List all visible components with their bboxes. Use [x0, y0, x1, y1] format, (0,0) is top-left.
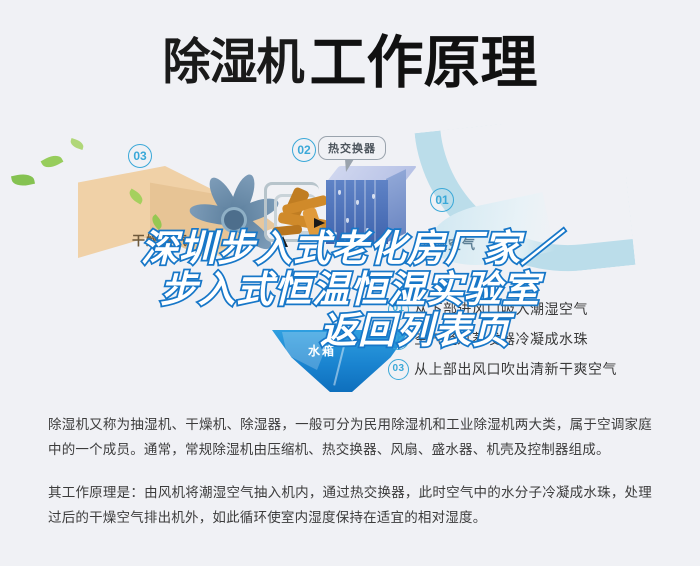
- leaf-icon: [69, 138, 85, 150]
- dehumidifier-diagram: 干燥空气: [0, 118, 700, 400]
- step-badge-03: 03: [128, 144, 152, 168]
- legend-text-01: 从下部进风口吸入潮湿空气: [414, 294, 588, 324]
- wet-air-label: 潮湿空气: [420, 234, 476, 253]
- legend-badge-03: 03: [388, 359, 409, 380]
- step-badge-01: 01: [430, 188, 454, 212]
- diagram-legend: 01 从下部进风口吸入潮湿空气 02 空气经过蒸发器冷凝成水珠 03 从上部出风…: [388, 294, 688, 384]
- step-badge-02: 02: [292, 138, 316, 162]
- title-part-dehumidifier: 除湿机: [162, 39, 303, 88]
- legend-text-02: 空气经过蒸发器冷凝成水珠: [414, 324, 588, 354]
- leaf-icon: [11, 172, 35, 188]
- legend-badge-02: 02: [388, 329, 409, 350]
- article-body: 除湿机又称为抽湿机、干燥机、除湿器，一般可分为民用除湿机和工业除湿机两大类，属于…: [0, 412, 700, 548]
- legend-text-03: 从上部出风口吹出清新干爽空气: [414, 354, 617, 384]
- dry-air-label: 干燥空气: [132, 230, 188, 249]
- article-paragraph-1: 除湿机又称为抽湿机、干燥机、除湿器，一般可分为民用除湿机和工业除湿机两大类，属于…: [48, 412, 652, 462]
- poster-page: 除湿机 工作原理 干燥空气: [0, 0, 700, 566]
- water-tank-label: 水箱: [308, 342, 336, 359]
- heat-exchanger-callout: 热交换器: [318, 136, 386, 160]
- page-title: 除湿机 工作原理: [0, 24, 700, 102]
- legend-item: 03 从上部出风口吹出清新干爽空气: [388, 354, 688, 384]
- title-part-working-principle: 工作原理: [310, 35, 538, 92]
- heat-exchanger-icon: [326, 166, 410, 244]
- leaf-icon: [41, 152, 64, 171]
- legend-item: 02 空气经过蒸发器冷凝成水珠: [388, 324, 688, 354]
- legend-item: 01 从下部进风口吸入潮湿空气: [388, 294, 688, 324]
- article-paragraph-2: 其工作原理是：由风机将潮湿空气抽入机内，通过热交换器，此时空气中的水分子冷凝成水…: [48, 480, 652, 530]
- legend-badge-01: 01: [388, 299, 409, 320]
